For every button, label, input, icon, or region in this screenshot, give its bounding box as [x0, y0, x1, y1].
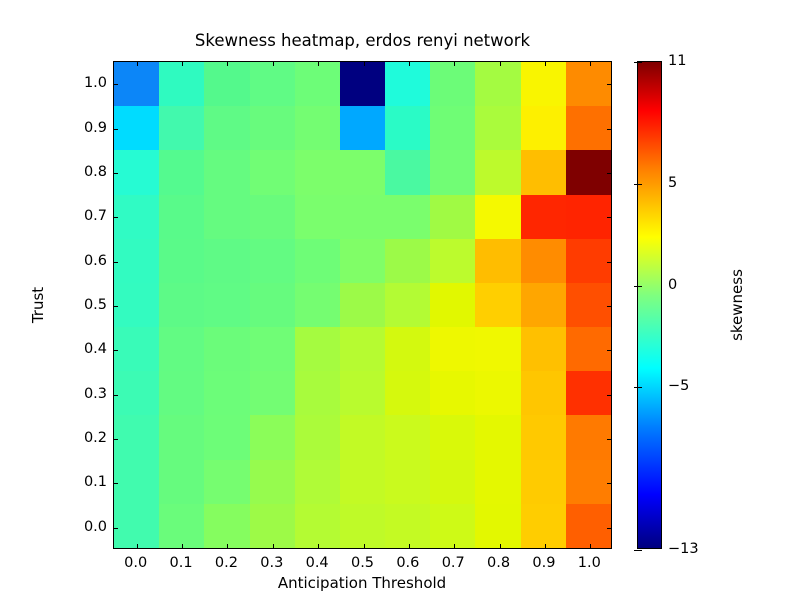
x-axis-tick-label: 0.5 — [351, 555, 374, 571]
x-axis-tick-top-inner — [318, 62, 319, 66]
heatmap-cell — [566, 283, 611, 327]
x-axis-tick-label: 0.4 — [306, 555, 329, 571]
y-axis-tick-inner — [114, 439, 118, 440]
colorbar-tick-label: 0 — [668, 277, 677, 293]
y-axis-tick-right — [611, 173, 612, 174]
y-axis-tick-inner — [114, 306, 118, 307]
heatmap-cell — [250, 283, 295, 327]
y-axis-tick-label: 0.9 — [84, 120, 107, 136]
x-axis-tick-top-inner — [273, 62, 274, 66]
x-axis-tick-top — [590, 61, 591, 62]
heatmap-cell — [250, 460, 295, 504]
x-axis-tick-top-inner — [545, 62, 546, 66]
heatmap-cell — [385, 415, 430, 459]
y-axis-tick-right — [611, 217, 612, 218]
colorbar-tick-inner — [638, 62, 642, 63]
heatmap-cell — [295, 239, 340, 283]
heatmap-cell — [114, 283, 159, 327]
heatmap-cell — [295, 106, 340, 150]
heatmap-cell — [566, 415, 611, 459]
y-axis-tick-inner — [114, 129, 118, 130]
heatmap-cell — [475, 62, 520, 106]
x-axis-tick-top — [227, 61, 228, 62]
heatmap-cell — [250, 195, 295, 239]
heatmap-cell — [159, 239, 204, 283]
colorbar-tick-inner — [638, 550, 642, 551]
x-axis-tick-inner — [590, 544, 591, 548]
x-axis-tick-inner — [409, 544, 410, 548]
y-axis-tick-right-inner — [607, 217, 611, 218]
heatmap-cell — [114, 62, 159, 106]
heatmap-cell — [566, 62, 611, 106]
colorbar-tick-inner — [638, 286, 642, 287]
x-axis-tick — [137, 548, 138, 549]
heatmap-cell — [159, 327, 204, 371]
heatmap-cell — [159, 283, 204, 327]
x-axis-tick-inner — [500, 544, 501, 548]
heatmap-cell — [430, 460, 475, 504]
colorbar-tick-label: −13 — [668, 541, 699, 557]
x-axis-tick-top-inner — [590, 62, 591, 66]
heatmap-cell — [204, 504, 249, 548]
heatmap-cell — [250, 239, 295, 283]
x-axis-tick-top — [545, 61, 546, 62]
heatmap-cell — [430, 106, 475, 150]
x-axis-tick — [364, 548, 365, 549]
colorbar-tick-inner — [638, 184, 642, 185]
heatmap-cell — [385, 150, 430, 194]
heatmap-axes[interactable] — [113, 61, 612, 549]
heatmap-cell — [521, 106, 566, 150]
heatmap-cell — [475, 283, 520, 327]
y-axis-tick-inner — [114, 173, 118, 174]
heatmap-cell — [340, 283, 385, 327]
heatmap-cell — [114, 504, 159, 548]
heatmap-cell — [385, 371, 430, 415]
x-axis-tick — [454, 548, 455, 549]
colorbar-tick-label: −5 — [668, 378, 689, 394]
x-axis-tick-top — [137, 61, 138, 62]
heatmap-cell — [159, 504, 204, 548]
y-axis-tick-inner — [114, 84, 118, 85]
heatmap-cell — [114, 150, 159, 194]
x-axis-tick-top-inner — [409, 62, 410, 66]
y-axis-tick-right-inner — [607, 483, 611, 484]
x-axis-tick-top-inner — [500, 62, 501, 66]
heatmap-cell — [340, 150, 385, 194]
x-axis-tick-label: 0.9 — [532, 555, 555, 571]
colorbar[interactable] — [637, 61, 662, 549]
y-axis-tick-label: 1.0 — [84, 75, 107, 91]
x-axis-tick-top — [454, 61, 455, 62]
y-axis-tick-right-inner — [607, 173, 611, 174]
y-axis-tick-right — [611, 129, 612, 130]
heatmap-cell — [475, 327, 520, 371]
heatmap-cell — [295, 415, 340, 459]
x-axis-tick-top — [364, 61, 365, 62]
x-axis-tick-label: 0.3 — [260, 555, 283, 571]
y-axis-tick-inner — [114, 395, 118, 396]
heatmap-cell — [430, 415, 475, 459]
heatmap-cell — [295, 371, 340, 415]
heatmap-cell — [159, 62, 204, 106]
heatmap-cell — [566, 239, 611, 283]
heatmap-cell — [204, 62, 249, 106]
heatmap-cell — [521, 283, 566, 327]
heatmap-cell — [521, 415, 566, 459]
x-axis-tick — [182, 548, 183, 549]
heatmap-cell — [204, 195, 249, 239]
y-axis-tick-right-inner — [607, 262, 611, 263]
heatmap-cell — [159, 106, 204, 150]
x-axis-tick-label: 0.1 — [170, 555, 193, 571]
y-axis-tick-inner — [114, 217, 118, 218]
y-axis-tick-right — [611, 439, 612, 440]
heatmap-cell — [340, 239, 385, 283]
heatmap-cell — [521, 504, 566, 548]
heatmap-cell — [340, 371, 385, 415]
y-axis-tick-label: 0.3 — [84, 386, 107, 402]
x-axis-tick — [318, 548, 319, 549]
y-axis-tick-right — [611, 84, 612, 85]
heatmap-cell — [295, 150, 340, 194]
y-axis-tick-label: 0.8 — [84, 164, 107, 180]
y-axis-tick-inner — [114, 262, 118, 263]
heatmap-cell — [340, 460, 385, 504]
heatmap-cell — [566, 460, 611, 504]
y-axis-tick-label: 0.4 — [84, 341, 107, 357]
heatmap-cell — [340, 62, 385, 106]
heatmap-cell — [521, 460, 566, 504]
heatmap-cell — [475, 415, 520, 459]
heatmap-cell — [159, 415, 204, 459]
y-axis-tick-label: 0.2 — [84, 430, 107, 446]
x-axis-tick-top-inner — [454, 62, 455, 66]
heatmap-cell — [385, 327, 430, 371]
heatmap-cell — [521, 327, 566, 371]
x-axis-tick — [500, 548, 501, 549]
heatmap-cell — [159, 371, 204, 415]
heatmap-cell — [385, 460, 430, 504]
x-axis-tick-inner — [364, 544, 365, 548]
heatmap-cell — [430, 283, 475, 327]
heatmap-cell — [475, 106, 520, 150]
heatmap-cell — [250, 415, 295, 459]
x-axis-tick-inner — [137, 544, 138, 548]
heatmap-cell — [340, 504, 385, 548]
y-axis-tick-right-inner — [607, 306, 611, 307]
heatmap-cell — [475, 504, 520, 548]
heatmap-cell — [204, 239, 249, 283]
x-axis-tick — [409, 548, 410, 549]
heatmap-cell — [475, 239, 520, 283]
x-axis-tick-label: 0.8 — [487, 555, 510, 571]
heatmap-cell — [385, 283, 430, 327]
heatmap-cell — [430, 62, 475, 106]
heatmap-grid — [114, 62, 611, 548]
heatmap-cell — [250, 62, 295, 106]
figure-canvas: Skewness heatmap, erdos renyi network Tr… — [0, 0, 812, 612]
heatmap-cell — [430, 239, 475, 283]
y-axis-title: Trust — [29, 287, 47, 323]
y-axis-tick-inner — [114, 350, 118, 351]
heatmap-cell — [114, 371, 159, 415]
heatmap-cell — [566, 195, 611, 239]
heatmap-cell — [250, 371, 295, 415]
x-axis-tick-label: 1.0 — [578, 555, 601, 571]
heatmap-cell — [295, 327, 340, 371]
x-axis-tick — [545, 548, 546, 549]
x-axis-tick-label: 0.2 — [215, 555, 238, 571]
heatmap-cell — [430, 327, 475, 371]
x-axis-tick — [227, 548, 228, 549]
colorbar-tick-label: 5 — [668, 175, 677, 191]
x-axis-title: Anticipation Threshold — [278, 574, 446, 592]
y-axis-tick-right — [611, 350, 612, 351]
heatmap-cell — [204, 460, 249, 504]
heatmap-cell — [385, 195, 430, 239]
heatmap-cell — [114, 195, 159, 239]
heatmap-cell — [475, 371, 520, 415]
y-axis-tick-right-inner — [607, 129, 611, 130]
x-axis-tick-top — [318, 61, 319, 62]
x-axis-tick-top-inner — [182, 62, 183, 66]
heatmap-cell — [521, 150, 566, 194]
y-axis-tick-right — [611, 528, 612, 529]
heatmap-cell — [159, 460, 204, 504]
heatmap-cell — [340, 195, 385, 239]
heatmap-cell — [385, 106, 430, 150]
y-axis-tick-label: 0.7 — [84, 208, 107, 224]
heatmap-cell — [250, 150, 295, 194]
heatmap-cell — [475, 195, 520, 239]
heatmap-cell — [475, 460, 520, 504]
x-axis-tick-inner — [273, 544, 274, 548]
y-axis-tick-right — [611, 483, 612, 484]
heatmap-cell — [566, 327, 611, 371]
x-axis-tick-label: 0.0 — [124, 555, 147, 571]
heatmap-cell — [114, 327, 159, 371]
x-axis-tick — [590, 548, 591, 549]
y-axis-tick-right — [611, 262, 612, 263]
heatmap-cell — [159, 195, 204, 239]
x-axis-tick-top — [409, 61, 410, 62]
colorbar-title: skewness — [728, 269, 746, 341]
x-axis-tick-label: 0.7 — [442, 555, 465, 571]
heatmap-cell — [204, 371, 249, 415]
heatmap-cell — [204, 150, 249, 194]
y-axis-tick-label: 0.1 — [84, 474, 107, 490]
x-axis-tick-top-inner — [137, 62, 138, 66]
y-axis-tick-label: 0.5 — [84, 297, 107, 313]
heatmap-cell — [295, 195, 340, 239]
heatmap-cell — [430, 195, 475, 239]
y-axis-tick-right-inner — [607, 350, 611, 351]
heatmap-cell — [521, 239, 566, 283]
chart-title: Skewness heatmap, erdos renyi network — [113, 31, 612, 50]
x-axis-tick-top — [273, 61, 274, 62]
x-axis-tick-inner — [454, 544, 455, 548]
x-axis-tick-label: 0.6 — [396, 555, 419, 571]
heatmap-cell — [295, 62, 340, 106]
y-axis-tick-right — [611, 306, 612, 307]
heatmap-cell — [250, 327, 295, 371]
x-axis-tick-inner — [545, 544, 546, 548]
heatmap-cell — [566, 371, 611, 415]
heatmap-cell — [521, 62, 566, 106]
heatmap-cell — [250, 504, 295, 548]
colorbar-tick-label: 11 — [668, 53, 686, 69]
heatmap-cell — [430, 371, 475, 415]
x-axis-tick-inner — [318, 544, 319, 548]
heatmap-cell — [114, 460, 159, 504]
heatmap-cell — [114, 415, 159, 459]
heatmap-cell — [521, 195, 566, 239]
heatmap-cell — [295, 460, 340, 504]
heatmap-cell — [295, 283, 340, 327]
heatmap-cell — [521, 371, 566, 415]
heatmap-cell — [340, 327, 385, 371]
x-axis-tick-inner — [182, 544, 183, 548]
heatmap-cell — [340, 106, 385, 150]
heatmap-cell — [566, 504, 611, 548]
x-axis-tick — [273, 548, 274, 549]
heatmap-cell — [385, 62, 430, 106]
x-axis-tick-top-inner — [227, 62, 228, 66]
heatmap-cell — [430, 504, 475, 548]
heatmap-cell — [566, 150, 611, 194]
x-axis-tick-top — [182, 61, 183, 62]
heatmap-cell — [385, 504, 430, 548]
y-axis-tick-label: 0.0 — [84, 519, 107, 535]
heatmap-cell — [114, 106, 159, 150]
heatmap-cell — [204, 106, 249, 150]
heatmap-cell — [204, 415, 249, 459]
y-axis-tick-inner — [114, 483, 118, 484]
x-axis-tick-top-inner — [364, 62, 365, 66]
heatmap-cell — [114, 239, 159, 283]
y-axis-tick-right-inner — [607, 84, 611, 85]
x-axis-tick-inner — [227, 544, 228, 548]
y-axis-tick-right-inner — [607, 528, 611, 529]
heatmap-cell — [475, 150, 520, 194]
heatmap-cell — [430, 150, 475, 194]
y-axis-tick-inner — [114, 528, 118, 529]
y-axis-tick-label: 0.6 — [84, 253, 107, 269]
heatmap-cell — [250, 106, 295, 150]
y-axis-tick-right-inner — [607, 439, 611, 440]
heatmap-cell — [295, 504, 340, 548]
heatmap-cell — [159, 150, 204, 194]
colorbar-tick-inner — [638, 387, 642, 388]
heatmap-cell — [204, 327, 249, 371]
heatmap-cell — [385, 239, 430, 283]
heatmap-cell — [566, 106, 611, 150]
y-axis-tick-right-inner — [607, 395, 611, 396]
y-axis-tick-right — [611, 395, 612, 396]
heatmap-cell — [340, 415, 385, 459]
x-axis-tick-top — [500, 61, 501, 62]
heatmap-cell — [204, 283, 249, 327]
